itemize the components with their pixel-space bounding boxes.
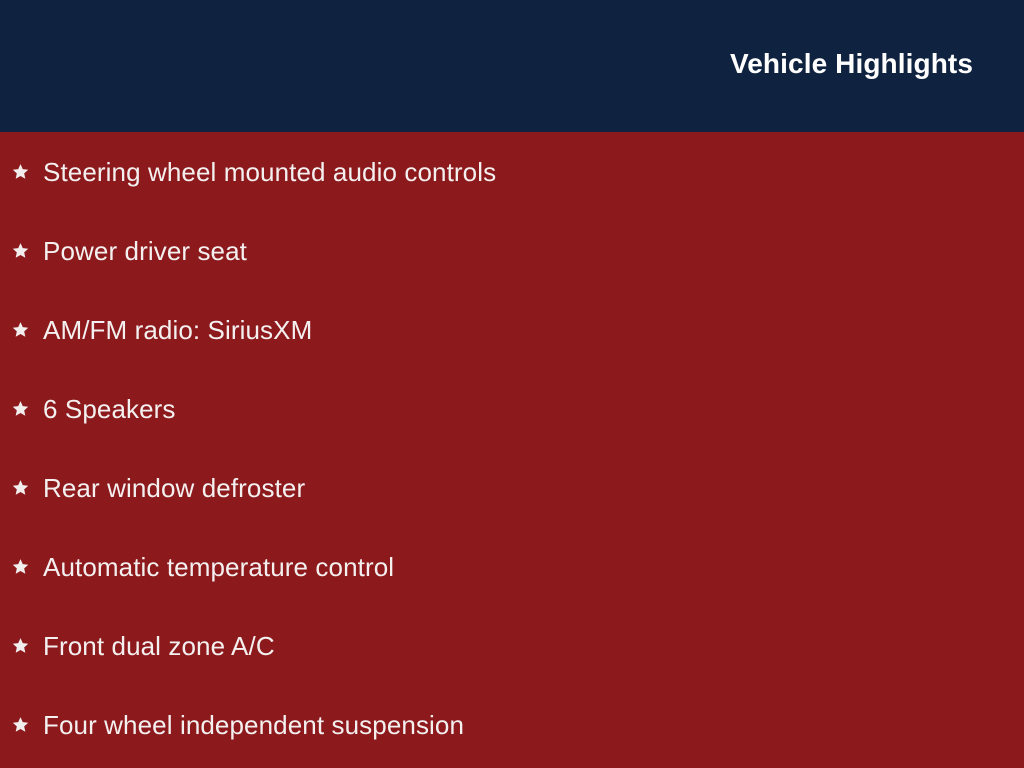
list-item-label: Power driver seat	[43, 235, 247, 267]
star-icon	[12, 712, 29, 738]
list-item: Front dual zone A/C	[0, 606, 1024, 685]
list-item-label: AM/FM radio: SiriusXM	[43, 314, 312, 346]
list-item: Steering wheel mounted audio controls	[0, 132, 1024, 211]
list-item-label: Front dual zone A/C	[43, 630, 275, 662]
slide-header-band: Vehicle Highlights	[0, 0, 1024, 132]
star-icon	[12, 159, 29, 185]
list-item: Four wheel independent suspension	[0, 685, 1024, 764]
list-item-label: 6 Speakers	[43, 393, 176, 425]
star-icon	[12, 554, 29, 580]
vehicle-highlights-slide: Vehicle Highlights Steering wheel mounte…	[0, 0, 1024, 768]
list-item: Power driver seat	[0, 211, 1024, 290]
list-item: Rear window defroster	[0, 448, 1024, 527]
star-icon	[12, 396, 29, 422]
star-icon	[12, 238, 29, 264]
list-item-label: Rear window defroster	[43, 472, 305, 504]
page-title: Vehicle Highlights	[730, 45, 973, 83]
list-item: Automatic temperature control	[0, 527, 1024, 606]
list-item-label: Four wheel independent suspension	[43, 709, 464, 741]
star-icon	[12, 633, 29, 659]
list-item-label: Steering wheel mounted audio controls	[43, 156, 496, 188]
list-item-label: Automatic temperature control	[43, 551, 394, 583]
star-icon	[12, 475, 29, 501]
star-icon	[12, 317, 29, 343]
list-item: 6 Speakers	[0, 369, 1024, 448]
slide-body: Steering wheel mounted audio controls Po…	[0, 132, 1024, 768]
vehicle-highlights-list: Steering wheel mounted audio controls Po…	[0, 132, 1024, 764]
list-item: AM/FM radio: SiriusXM	[0, 290, 1024, 369]
